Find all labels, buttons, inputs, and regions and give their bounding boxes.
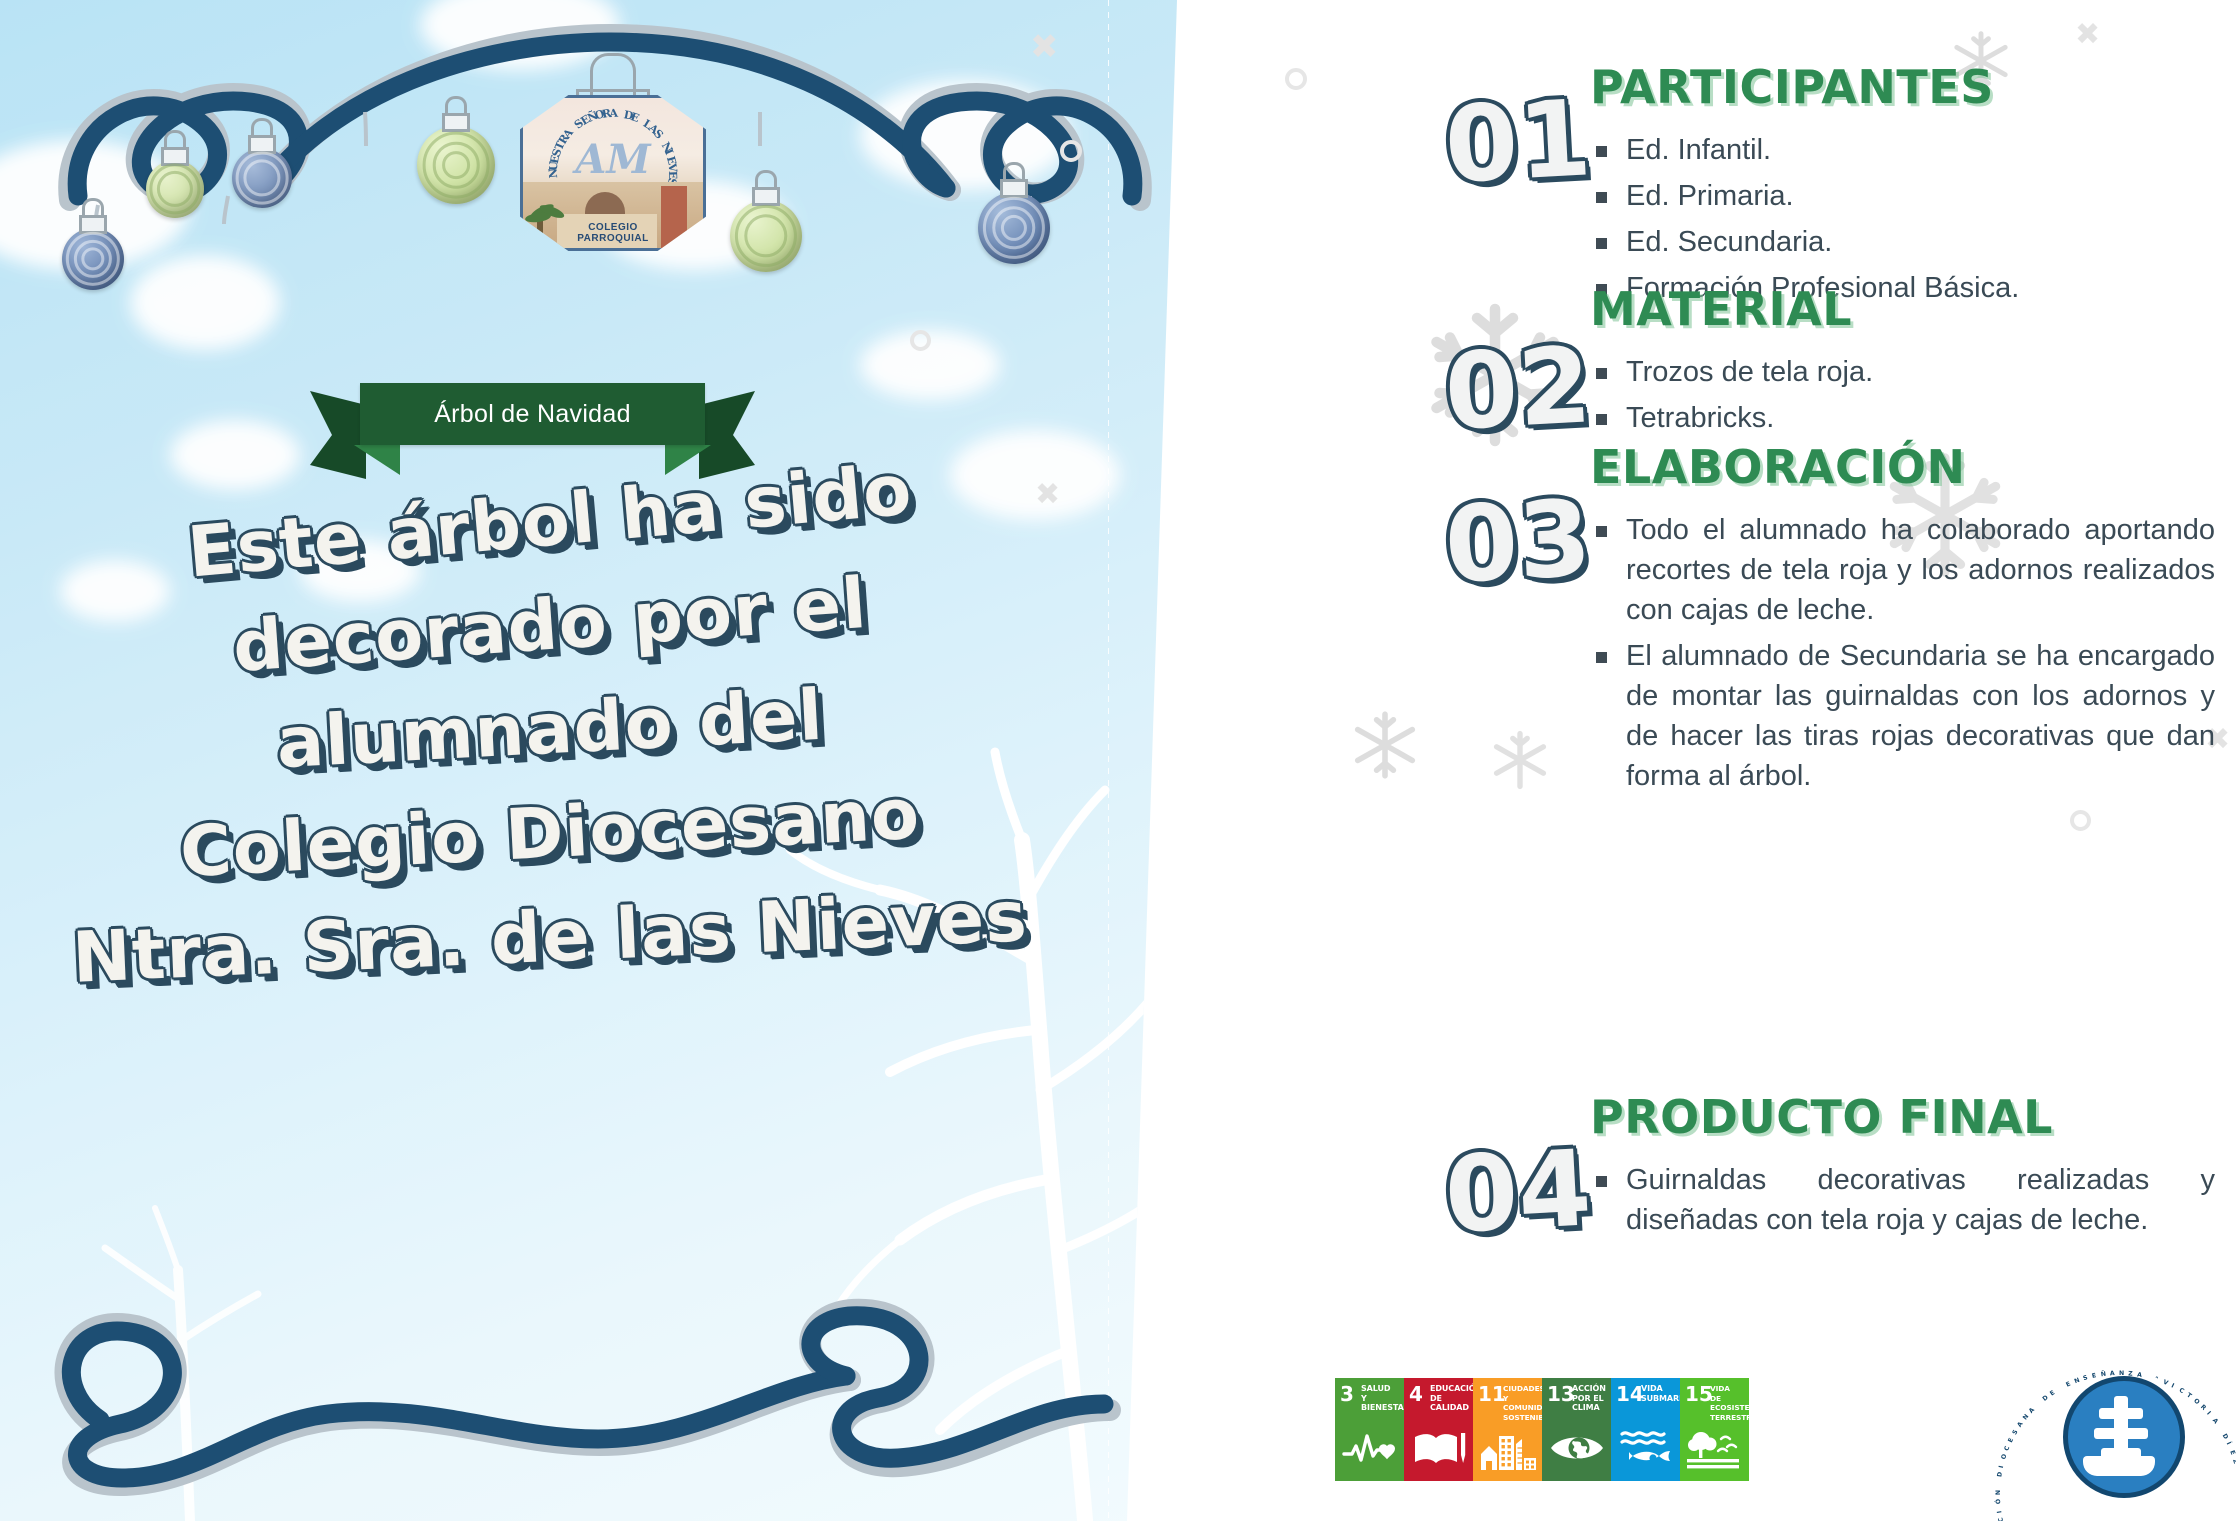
sdg-title: ACCIÓN POR EL CLIMA (1572, 1384, 1608, 1413)
section-heading: PARTICIPANTES (1590, 60, 2210, 114)
ornament-bauble (62, 228, 124, 290)
emblem-octagon: NUESTRA SEÑORA DE LAS NIEVES AM COLEGIO … (520, 95, 706, 251)
sparkle-x-icon: ✖ (1030, 30, 1059, 64)
open-book-pencil-icon (1404, 1421, 1473, 1475)
list-item: Guirnaldas decorativas realizadas y dise… (1590, 1160, 2215, 1240)
circle-dot-icon (1285, 68, 1307, 90)
list-item: Todo el alumnado ha colaborado aportando… (1590, 510, 2215, 630)
sdg-goal-3: 3 SALUD Y BIENESTAR (1335, 1378, 1404, 1481)
ornament-ball (417, 126, 495, 204)
list-item: Ed. Primaria. (1590, 176, 2210, 216)
section-number: 03 (1442, 486, 1593, 599)
banner-tail-left (310, 391, 366, 479)
ring-char: V (2162, 1379, 2169, 1387)
ring-char: E (2091, 1372, 2097, 1380)
ring-char: N (1995, 1490, 2002, 1495)
ornament-cap-icon (442, 113, 470, 132)
ring-char (2057, 1386, 2062, 1393)
circle-dot-icon (910, 330, 931, 351)
cross-horizontal (2099, 1408, 2143, 1419)
section-number: 01 (1442, 86, 1593, 199)
ring-char: C (1997, 1517, 2005, 1521)
ring-char: Ñ (2100, 1371, 2106, 1379)
section-heading: ELABORACIÓN (1590, 440, 2215, 494)
section-list: Todo el alumnado ha colaborado aportando… (1590, 510, 2215, 796)
sdg-title: VIDA DE ECOSISTEMAS TERRESTRES (1710, 1384, 1746, 1422)
ornament-bauble (417, 126, 495, 204)
list-item: Ed. Infantil. (1590, 130, 2210, 170)
circle-dot-icon (2070, 810, 2091, 831)
sdg-goals-row: 3 SALUD Y BIENESTAR 4 EDUCACIÓN DE CALID… (1335, 1378, 1749, 1481)
ribbon-garland-bottom (0, 1270, 1200, 1521)
list-item: El alumnado de Secundaria se ha encargad… (1590, 636, 2215, 796)
city-buildings-icon (1473, 1424, 1542, 1478)
sdg-goal-14: 14 VIDA SUBMARINA (1611, 1378, 1680, 1481)
ring-char: Ó (1995, 1499, 2002, 1505)
emblem-arc-char: A (609, 107, 619, 121)
tree-birds-icon (1680, 1423, 1749, 1477)
ornament-bauble (146, 160, 204, 218)
sdg-number: 11 (1478, 1384, 1506, 1404)
sdg-goal-11: 11 CIUDADES Y COMUNIDADES SOSTENIBLES (1473, 1378, 1542, 1481)
sdg-number: 15 (1685, 1384, 1713, 1404)
panel-dashed-edge (1108, 0, 1109, 1521)
ring-char (1995, 1484, 2002, 1487)
school-emblem: NUESTRA SEÑORA DE LAS NIEVES AM COLEGIO … (520, 95, 700, 250)
ring-char: I (2170, 1382, 2175, 1389)
cloud-shape (130, 255, 280, 350)
banner-arbol-navidad: Árbol de Navidad (310, 383, 755, 468)
sdg-title: CIUDADES Y COMUNIDADES SOSTENIBLES (1503, 1384, 1539, 1422)
cloud-shape (420, 0, 620, 70)
section-list: Guirnaldas decorativas realizadas y dise… (1590, 1160, 2215, 1240)
ornament-swirl (442, 151, 470, 179)
section-heading: PRODUCTO FINAL (1590, 1090, 2215, 1144)
ornament-ball (730, 200, 802, 272)
sdg-number: 4 (1409, 1384, 1423, 1404)
section-list: Trozos de tela roja. Tetrabricks. (1590, 352, 2210, 438)
cross-horizontal (2094, 1428, 2148, 1439)
ring-char: S (2082, 1374, 2088, 1382)
ornament-bauble (978, 192, 1050, 264)
poster-root: NUESTRA SEÑORA DE LAS NIEVES AM COLEGIO … (0, 0, 2236, 1521)
church-dome (585, 192, 625, 214)
snowflake-icon (1490, 730, 1550, 790)
cloud-shape (860, 80, 1070, 190)
section-heading: MATERIAL (1590, 282, 2210, 336)
section-number: 04 (1442, 1136, 1593, 1249)
sdg-title: EDUCACIÓN DE CALIDAD (1430, 1384, 1470, 1413)
ornament-ball (62, 228, 124, 290)
emblem-caption-line1: COLEGIO (523, 222, 703, 233)
list-item: Ed. Secundaria. (1590, 222, 2210, 262)
sdg-goal-15: 15 VIDA DE ECOSISTEMAS TERRESTRES (1680, 1378, 1749, 1481)
banner-label: Árbol de Navidad (434, 400, 631, 429)
sparkle-x-icon: ✖ (2075, 20, 2100, 50)
list-item: Trozos de tela roja. (1590, 352, 2210, 392)
sparkle-x-icon: ✖ (1035, 480, 1060, 510)
emblem-monogram: AM (523, 136, 703, 183)
emblem-arc-char: E (629, 110, 642, 125)
heartbeat-icon (1335, 1421, 1404, 1475)
foundation-logo: FUNDACIÓN DIOCESANA DE ENSEÑANZA "VICTOR… (2055, 1368, 2183, 1496)
sdg-title: SALUD Y BIENESTAR (1361, 1384, 1401, 1413)
sdg-number: 3 (1340, 1384, 1354, 1404)
ornament-swirl (157, 171, 193, 207)
emblem-caption: COLEGIO PARROQUIAL (523, 222, 703, 244)
ring-char: " (2154, 1376, 2159, 1384)
sdg-title: VIDA SUBMARINA (1641, 1384, 1677, 1403)
ornament-ball (146, 160, 204, 218)
left-panel: NUESTRA SEÑORA DE LAS NIEVES AM COLEGIO … (0, 0, 1200, 1521)
ring-char: N (2073, 1377, 2080, 1385)
open-book-shape (2083, 1456, 2155, 1476)
ornament-ball (232, 148, 292, 208)
sdg-goal-4: 4 EDUCACIÓN DE CALIDAD (1404, 1378, 1473, 1481)
ring-char: Z (2231, 1458, 2236, 1464)
sdg-number: 13 (1547, 1384, 1575, 1404)
emblem-caption-line2: PARROQUIAL (523, 233, 703, 244)
snowflake-icon (1350, 710, 1420, 780)
ring-char: E (2065, 1381, 2072, 1389)
eye-earth-icon (1542, 1421, 1611, 1475)
circle-dot-icon (1060, 140, 1082, 162)
ornament-cap-icon (752, 187, 780, 206)
sdg-number: 14 (1616, 1384, 1644, 1404)
right-column: ✖ ✖ ✖ ✖ ✖ 01 PARTICIPANTES Ed. Infantil.… (1200, 0, 2236, 1521)
ornament-bauble (232, 148, 292, 208)
ring-char: D (1996, 1471, 2004, 1477)
ornament-ball (978, 192, 1050, 264)
banner-body: Árbol de Navidad (360, 383, 705, 445)
fish-waves-icon (1611, 1421, 1680, 1475)
ornament-bauble (730, 200, 802, 272)
sdg-goal-13: 13 ACCIÓN POR EL CLIMA (1542, 1378, 1611, 1481)
ornament-cap-icon (1000, 179, 1028, 198)
poster-title: Este árbol ha sido decorado por el alumn… (0, 480, 1100, 978)
section-number: 02 (1442, 333, 1593, 446)
list-item: Tetrabricks. (1590, 398, 2210, 438)
